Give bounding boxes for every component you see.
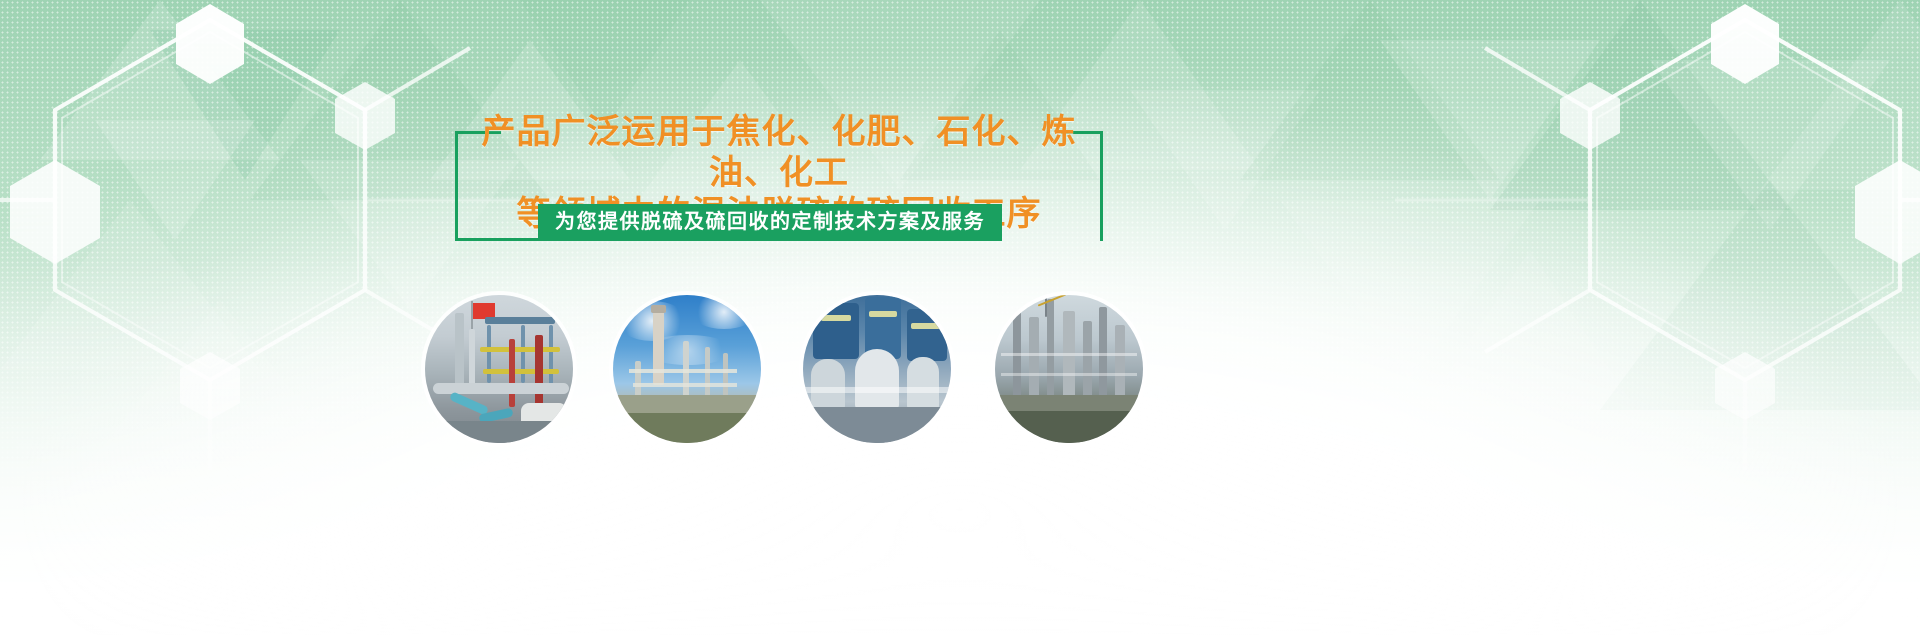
photo-chimney-stack [613,295,761,443]
photo-desulphurization-unit-image [425,295,573,443]
bracket-bottom-stub [455,238,551,241]
subtitle-banner: 为您提供脱硫及硫回收的定制技术方案及服务 [538,204,1002,241]
photo-blue-tanks-image [803,295,951,443]
photo-refinery-towers [995,295,1143,443]
photo-chimney-stack-image [613,295,761,443]
photo-desulphurization-unit [425,295,573,443]
photo-blue-tanks [803,295,951,443]
hero-banner: 产品广泛运用于焦化、化肥、石化、炼油、化工 等领域中的湿法脱硫的硫回收工序 为您… [0,0,1920,635]
headline-line-1: 产品广泛运用于焦化、化肥、石化、炼油、化工 [455,112,1103,194]
photo-circle-row [425,295,1155,445]
photo-refinery-towers-image [995,295,1143,443]
